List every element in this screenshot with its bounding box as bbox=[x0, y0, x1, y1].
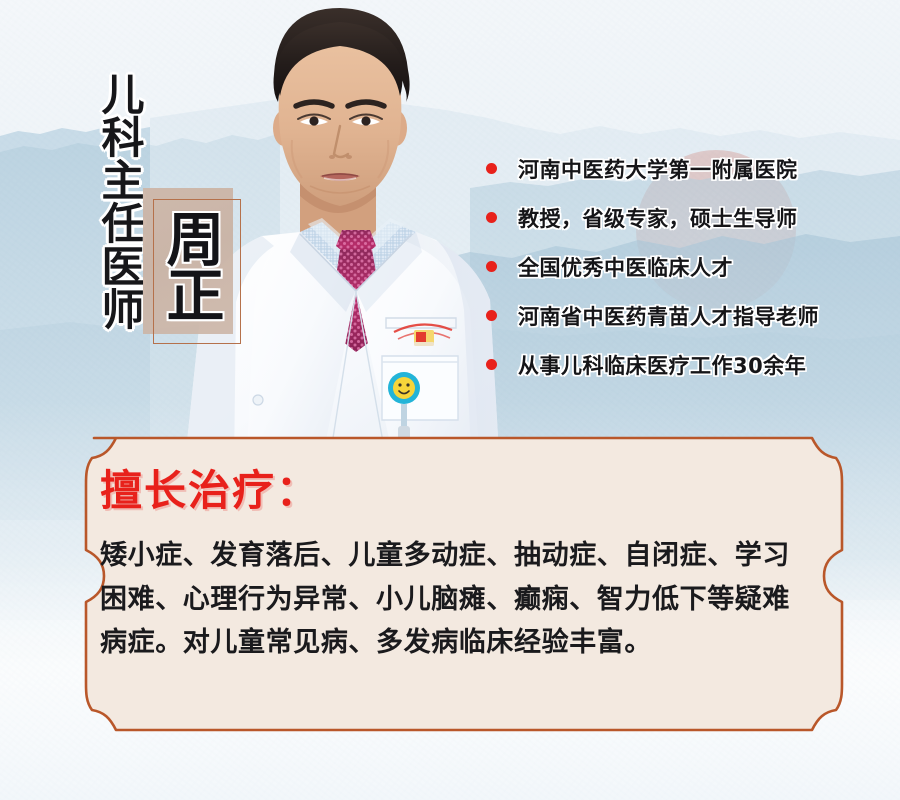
credentials-list: 河南中医药大学第一附属医院 教授，省级专家，硕士生导师 全国优秀中医临床人才 河… bbox=[486, 144, 886, 389]
doctor-name-char-1: 周 bbox=[166, 212, 224, 268]
credential-item: 河南中医药大学第一附属医院 bbox=[486, 144, 886, 193]
credential-text: 全国优秀中医临床人才 bbox=[518, 252, 733, 282]
credential-text: 河南中医药大学第一附属医院 bbox=[518, 154, 798, 184]
page-title-vertical: 儿科主任医师 bbox=[78, 72, 142, 330]
bullet-dot-icon bbox=[486, 261, 497, 272]
panel-content: 擅长治疗： 矮小症、发育落后、儿童多动症、抽动症、自闭症、学习困难、心理行为异常… bbox=[100, 470, 810, 665]
credential-text: 教授，省级专家，硕士生导师 bbox=[518, 203, 798, 233]
credential-text: 河南省中医药青苗人才指导老师 bbox=[518, 301, 819, 331]
bullet-dot-icon bbox=[486, 359, 497, 370]
lapel-badge bbox=[414, 330, 434, 346]
poster-root: 儿科主任医师 周 正 河南中医药大学第一附属医院 教授，省级专家，硕士生导师 全… bbox=[0, 0, 900, 800]
specialty-panel: 擅长治疗： 矮小症、发育落后、儿童多动症、抽动症、自闭症、学习困难、心理行为异常… bbox=[58, 432, 848, 736]
panel-title: 擅长治疗： bbox=[100, 470, 810, 512]
doctor-name-char-2: 正 bbox=[166, 268, 224, 324]
credential-item: 全国优秀中医临床人才 bbox=[486, 242, 886, 291]
doctor-name: 周 正 bbox=[143, 188, 248, 348]
doctor-nameplate: 周 正 bbox=[143, 188, 248, 348]
credential-item: 教授，省级专家，硕士生导师 bbox=[486, 193, 886, 242]
bullet-dot-icon bbox=[486, 212, 497, 223]
bullet-dot-icon bbox=[486, 310, 497, 321]
credential-item: 从事儿科临床医疗工作30余年 bbox=[486, 340, 886, 389]
panel-body-text: 矮小症、发育落后、儿童多动症、抽动症、自闭症、学习困难、心理行为异常、小儿脑瘫、… bbox=[100, 534, 800, 665]
credential-text: 从事儿科临床医疗工作30余年 bbox=[518, 350, 806, 380]
bullet-dot-icon bbox=[486, 163, 497, 174]
credential-item: 河南省中医药青苗人才指导老师 bbox=[486, 291, 886, 340]
